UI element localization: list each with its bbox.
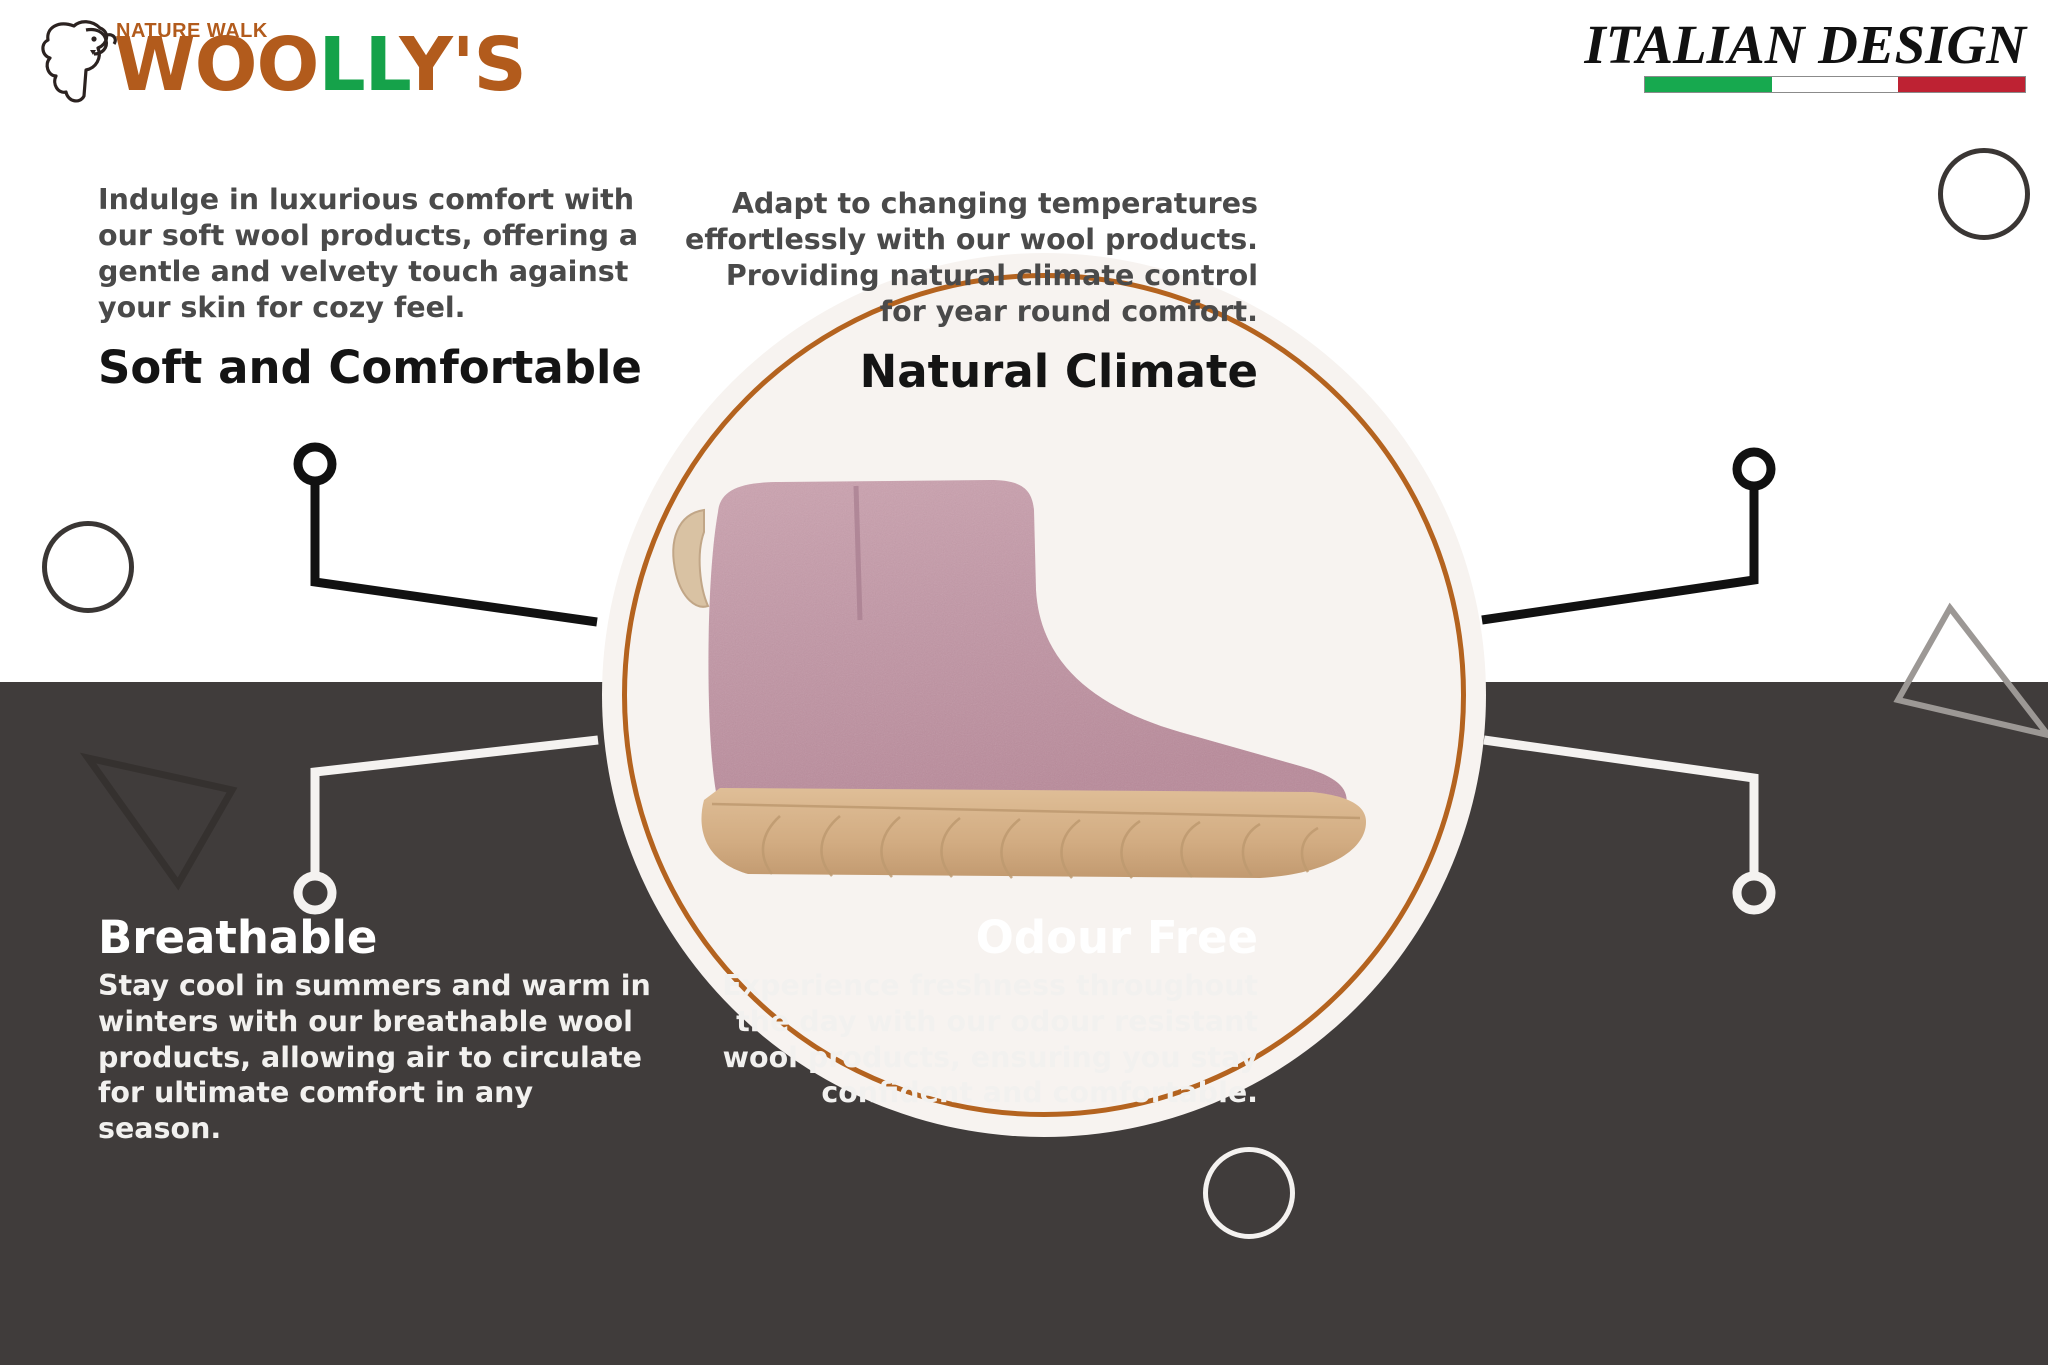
infographic-canvas: NATURE WALK WOOLLY'S ITALIAN DESIGN (0, 0, 2048, 1365)
italian-design-title: ITALIAN DESIGN (1546, 16, 2026, 74)
flag-stripe-red (1898, 77, 2025, 92)
feature-body-natural-climate: Adapt to changing temperatures effortles… (678, 186, 1258, 330)
italian-flag-bar (1644, 76, 2026, 93)
logo-wordmark-part-3: Y'S (399, 22, 526, 108)
feature-heading-natural-climate: Natural Climate (678, 346, 1258, 398)
feature-body-odour-free: Experience freshness throughout the day … (698, 968, 1258, 1112)
feature-body-breathable: Stay cool in summers and warm in winters… (98, 968, 658, 1148)
logo-wordmark: WOOLLY'S (114, 28, 526, 102)
flag-stripe-green (1645, 77, 1772, 92)
feature-heading-soft-and-comfortable: Soft and Comfortable (98, 342, 678, 394)
logo-wordmark-part-2: LL (318, 22, 399, 108)
feature-soft-and-comfortable: Indulge in luxurious comfort with our so… (98, 182, 678, 393)
feature-heading-odour-free: Odour Free (698, 912, 1258, 964)
feature-heading-breathable: Breathable (98, 912, 658, 964)
brand-logo[interactable]: NATURE WALK WOOLLY'S (38, 6, 458, 114)
italian-design-badge: ITALIAN DESIGN (1546, 16, 2026, 93)
product-image-wool-boot (660, 470, 1420, 920)
decorative-ring-left (42, 521, 134, 613)
logo-wordmark-part-1: WOO (114, 22, 318, 108)
flag-stripe-white (1772, 77, 1899, 92)
feature-breathable: Breathable Stay cool in summers and warm… (98, 912, 658, 1147)
feature-natural-climate: Adapt to changing temperatures effortles… (678, 186, 1258, 397)
sheep-icon (38, 16, 118, 112)
decorative-ring-bottom (1203, 1147, 1295, 1239)
decorative-ring-top-right (1938, 148, 2030, 240)
feature-body-soft-and-comfortable: Indulge in luxurious comfort with our so… (98, 182, 678, 326)
feature-odour-free: Odour Free Experience freshness througho… (698, 912, 1258, 1111)
